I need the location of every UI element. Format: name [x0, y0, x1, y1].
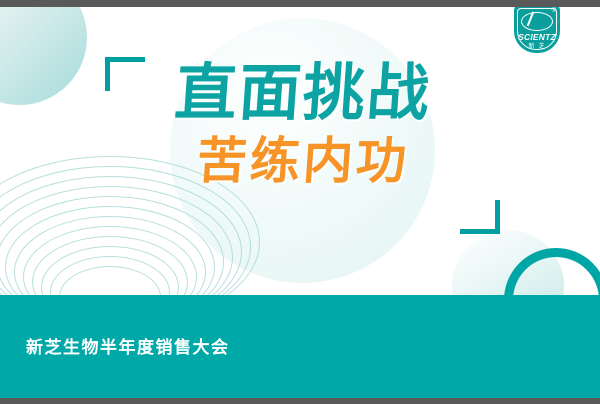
footer-text: 新芝生物半年度销售大会 [26, 333, 230, 358]
title-block: 直面挑战 苦练内功 [0, 60, 600, 190]
bottom-chrome-bar [0, 398, 600, 404]
registered-trademark-symbol: ® [552, 8, 556, 14]
logo-chinese-mark: 新 芝 [514, 41, 560, 50]
slide-headline: 直面挑战 [4, 60, 600, 127]
top-chrome-bar [0, 0, 600, 7]
slide-subheadline: 苦练内功 [4, 133, 600, 191]
footer-band: 新芝生物半年度销售大会 [0, 295, 600, 398]
corner-bracket-bottom-right [460, 200, 500, 234]
scientz-logo: ® SCIENTZ 新 芝 [514, 5, 560, 53]
presentation-slide: 直面挑战 苦练内功 新芝生物半年度销售大会 ® SCIENTZ 新 芝 [0, 0, 600, 404]
